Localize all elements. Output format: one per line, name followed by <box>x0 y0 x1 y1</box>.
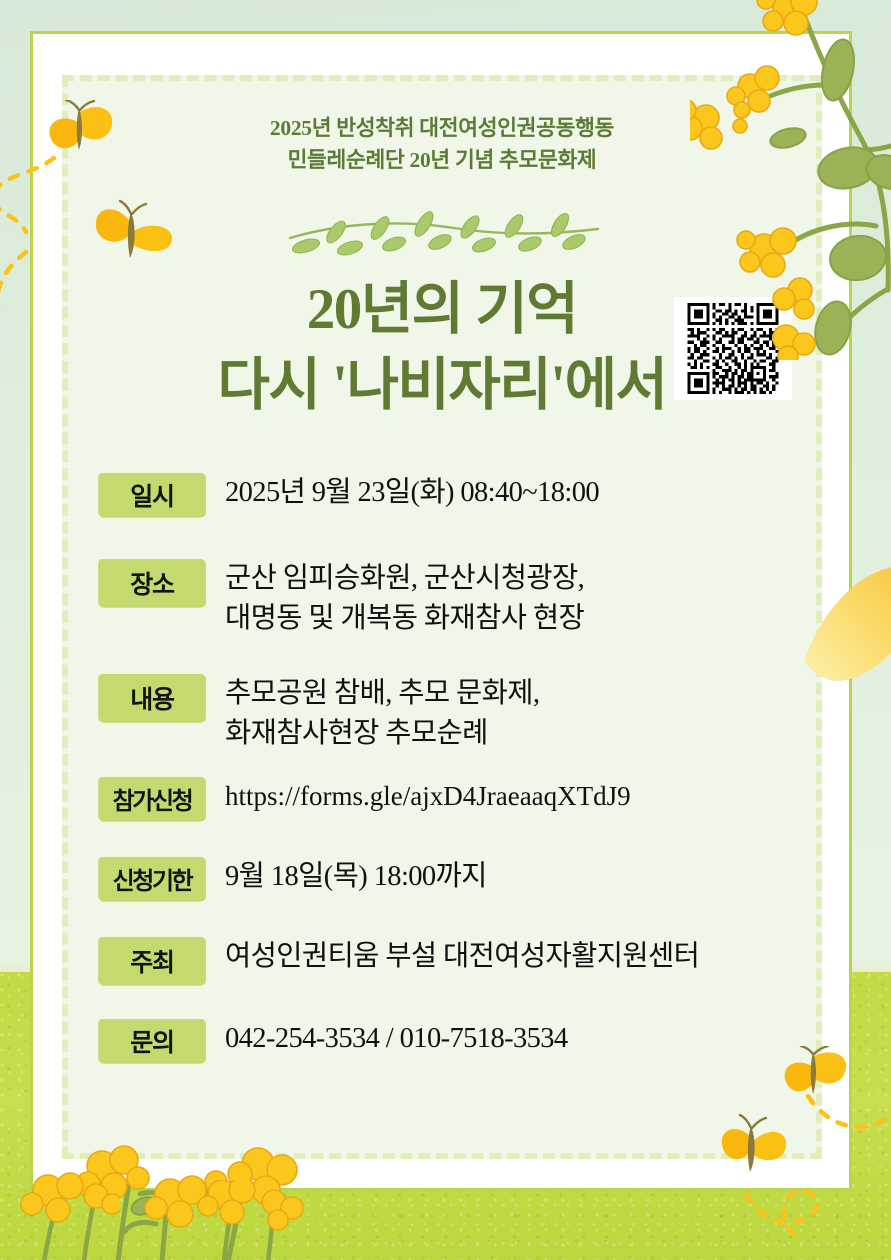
info-value-chamga-url[interactable]: https://forms.gle/ajxD4JraeaaqXTdJ9 <box>205 777 817 815</box>
info-value-sincheong: 9월 18일(목) 18:00까지 <box>205 857 817 897</box>
jangso-line-1: 군산 임피승화원, 군산시청광장, <box>225 559 817 599</box>
ilsi-line-1: 2025년 9월 23일(화) 08:40~18:00 <box>225 473 817 513</box>
jangso-line-2: 대명동 및 개복동 화재참사 현장 <box>225 599 817 639</box>
info-value-ilsi: 2025년 9월 23일(화) 08:40~18:00 <box>205 473 817 513</box>
info-row-jangso: 장소 군산 임피승화원, 군산시청광장, 대명동 및 개복동 화재참사 현장 <box>99 559 817 640</box>
info-row-naeyong: 내용 추모공원 참배, 추모 문화제, 화재참사현장 추모순례 <box>99 674 817 755</box>
subtitle-line-2: 민들레순례단 20년 기념 추모문화제 <box>62 145 822 177</box>
info-row-juchoe: 주최 여성인권티움 부설 대전여성자활지원센터 <box>99 937 817 985</box>
qr-code-icon <box>680 303 786 394</box>
poster-subtitle: 2025년 반성착취 대전여성인권공동행동 민들레순례단 20년 기념 추모문화… <box>62 113 822 177</box>
naeyong-line-1: 추모공원 참배, 추모 문화제, <box>225 674 817 714</box>
info-label-ilsi: 일시 <box>99 473 205 517</box>
vine-divider-icon <box>284 208 604 262</box>
poster-root: 2025년 반성착취 대전여성인권공동행동 민들레순례단 20년 기념 추모문화… <box>0 0 891 1260</box>
info-value-naeyong: 추모공원 참배, 추모 문화제, 화재참사현장 추모순례 <box>205 674 817 755</box>
info-label-munui: 문의 <box>99 1019 205 1063</box>
info-value-jangso: 군산 임피승화원, 군산시청광장, 대명동 및 개복동 화재참사 현장 <box>205 559 817 640</box>
qr-code[interactable] <box>674 297 792 400</box>
yellow-petal-icon <box>800 556 891 686</box>
info-label-juchoe: 주최 <box>99 937 205 985</box>
info-label-sincheong: 신청기한 <box>99 857 205 901</box>
info-label-chamga: 참가신청 <box>99 777 205 821</box>
info-row-chamga: 참가신청 https://forms.gle/ajxD4JraeaaqXTdJ9 <box>99 777 817 821</box>
info-label-jangso: 장소 <box>99 559 205 607</box>
content-area: 2025년 반성착취 대전여성인권공동행동 민들레순례단 20년 기념 추모문화… <box>62 75 822 1159</box>
sincheong-line-1: 9월 18일(목) 18:00까지 <box>225 857 817 897</box>
info-value-munui: 042-254-3534 / 010-7518-3534 <box>205 1019 817 1059</box>
info-row-ilsi: 일시 2025년 9월 23일(화) 08:40~18:00 <box>99 473 817 517</box>
info-value-juchoe: 여성인권티움 부설 대전여성자활지원센터 <box>205 937 817 977</box>
info-row-sincheong: 신청기한 9월 18일(목) 18:00까지 <box>99 857 817 901</box>
munui-line-1: 042-254-3534 / 010-7518-3534 <box>225 1019 817 1059</box>
naeyong-line-2: 화재참사현장 추모순례 <box>225 714 817 754</box>
info-rows: 일시 2025년 9월 23일(화) 08:40~18:00 장소 군산 임피승… <box>99 473 817 1063</box>
info-row-munui: 문의 042-254-3534 / 010-7518-3534 <box>99 1019 817 1063</box>
juchoe-line-1: 여성인권티움 부설 대전여성자활지원센터 <box>225 937 817 977</box>
subtitle-line-1: 2025년 반성착취 대전여성인권공동행동 <box>62 113 822 145</box>
info-label-naeyong: 내용 <box>99 674 205 722</box>
